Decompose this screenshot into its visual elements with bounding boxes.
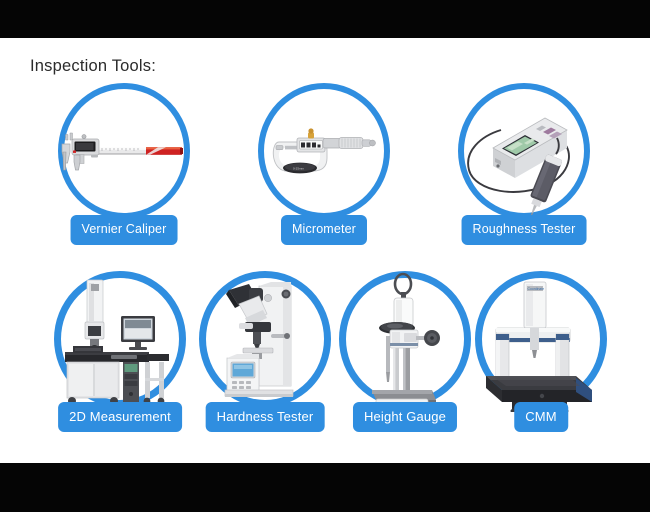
tool-label[interactable]: Vernier Caliper xyxy=(71,215,178,245)
svg-text:0-25mm: 0-25mm xyxy=(293,166,305,170)
hardness-tester-photo xyxy=(190,266,340,412)
roughness-tester-photo xyxy=(449,78,599,224)
tool-label[interactable]: Micrometer xyxy=(281,215,367,245)
tool-card-height-gauge[interactable]: Height Gauge xyxy=(330,266,480,456)
tool-label[interactable]: Hardness Tester xyxy=(206,402,325,432)
tool-card-vernier-caliper[interactable]: Vernier Caliper xyxy=(49,78,199,268)
tool-card-micrometer[interactable]: 0-25mm xyxy=(249,78,399,268)
tool-label[interactable]: 2D Measurement xyxy=(58,402,182,432)
tool-label[interactable]: Roughness Tester xyxy=(462,215,587,245)
svg-text:Coordinate: Coordinate xyxy=(528,287,545,291)
tool-card-2d-measurement[interactable]: 2D Measurement xyxy=(45,266,195,456)
tool-card-roughness-tester[interactable]: Roughness Tester xyxy=(449,78,599,268)
letterbox-top-bar xyxy=(0,0,650,38)
vernier-caliper-photo xyxy=(49,78,199,224)
page-title: Inspection Tools: xyxy=(30,57,156,76)
tool-label[interactable]: Height Gauge xyxy=(353,402,457,432)
height-gauge-photo xyxy=(330,266,480,412)
letterbox-bottom-bar xyxy=(0,463,650,512)
micrometer-photo: 0-25mm xyxy=(249,78,399,224)
vision-measuring-machine-photo xyxy=(45,266,195,412)
slide-root: Inspection Tools: xyxy=(0,0,650,512)
tool-row-1: Vernier Caliper xyxy=(0,78,650,268)
tool-card-hardness-tester[interactable]: Hardness Tester xyxy=(190,266,340,456)
tool-grid: Vernier Caliper xyxy=(0,78,650,456)
tool-label[interactable]: CMM xyxy=(514,402,568,432)
cmm-photo: Coordinate xyxy=(466,266,616,412)
slide-canvas: Inspection Tools: xyxy=(0,38,650,463)
tool-card-cmm[interactable]: Coordinate xyxy=(466,266,616,456)
tool-row-2: 2D Measurement xyxy=(0,266,650,456)
